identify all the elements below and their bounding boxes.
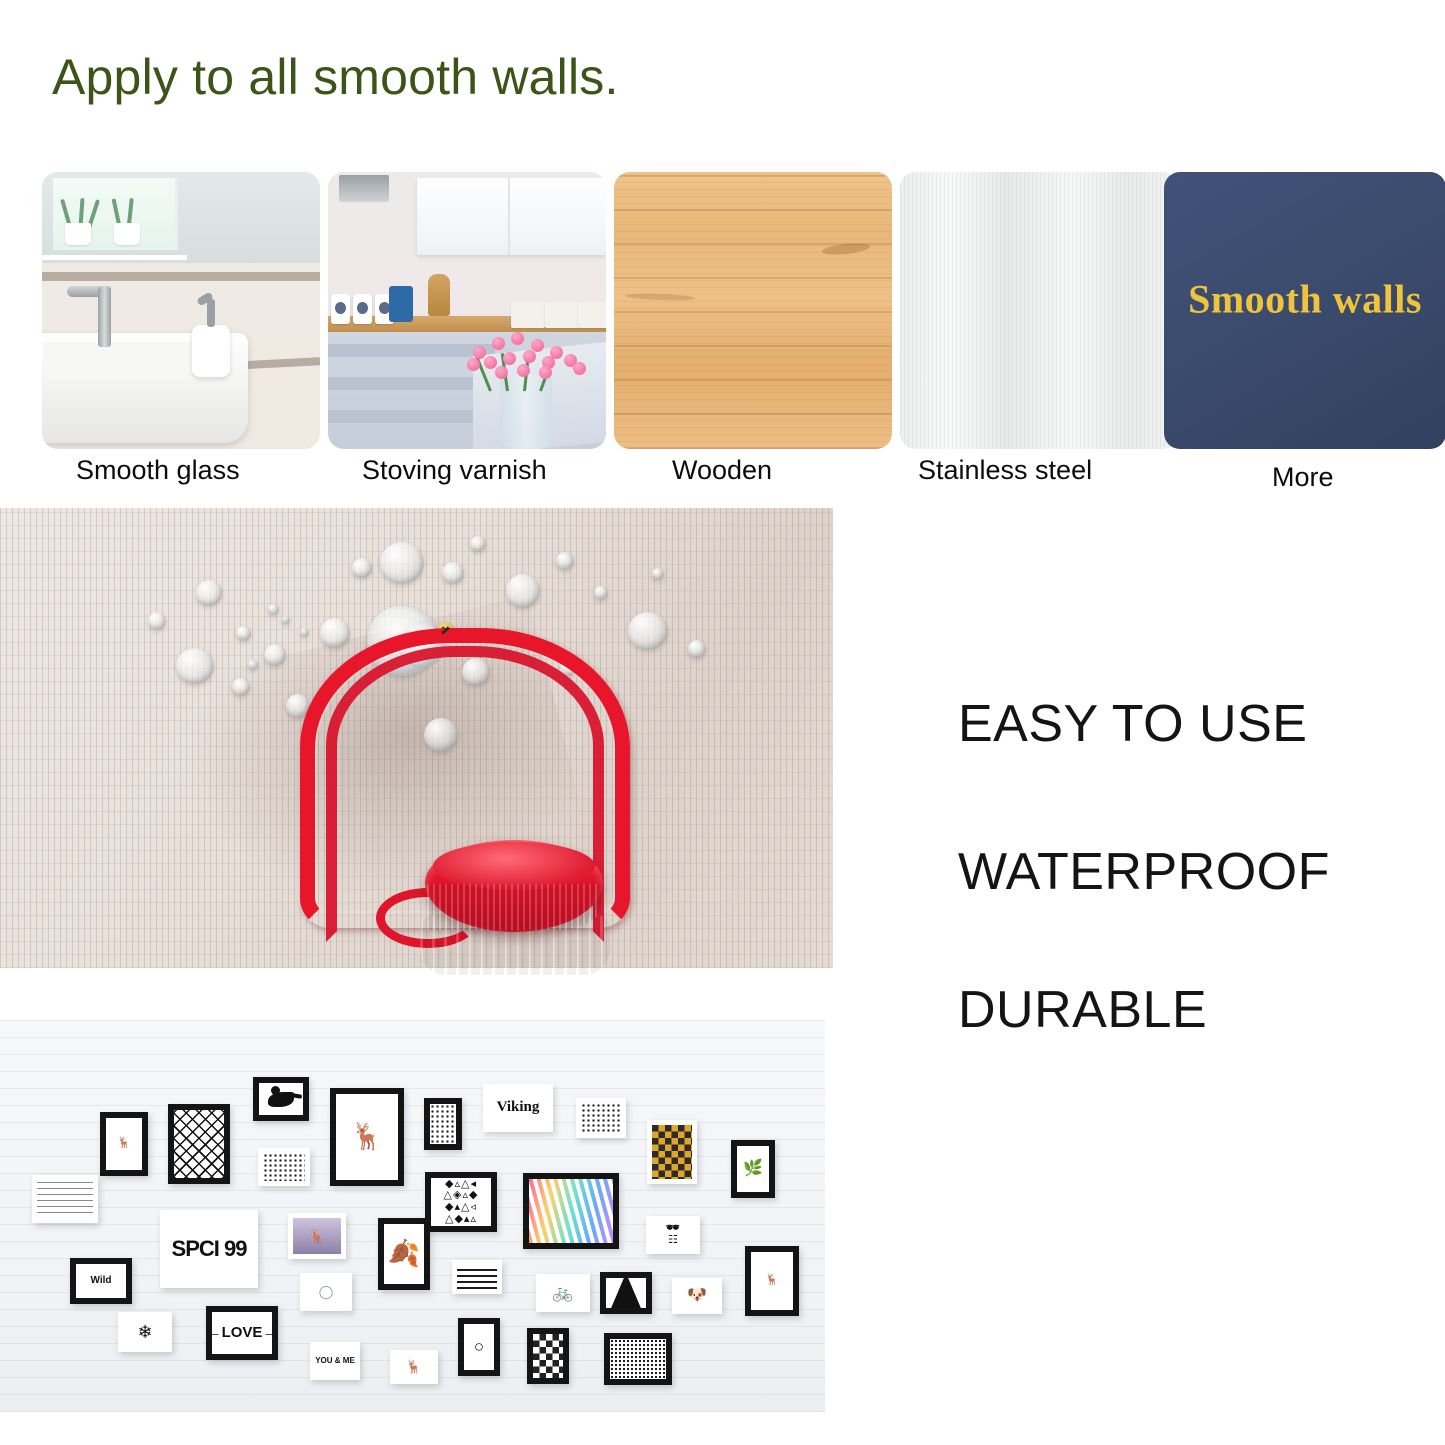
- water-droplet: [594, 586, 608, 600]
- water-droplet: [196, 580, 222, 606]
- frame-abstract-shapes: [527, 1328, 569, 1384]
- surface-tile-wooden: [614, 172, 892, 449]
- kitchen-cabinets-icon: [328, 172, 606, 449]
- frame-leaf: 🍂: [378, 1218, 430, 1290]
- frame-love: ← LOVE →: [206, 1306, 278, 1360]
- frame-tree-scene: [604, 1333, 672, 1385]
- frame-viking: Viking: [483, 1084, 553, 1132]
- feature-waterproof: WATERPROOF: [958, 842, 1330, 902]
- frame-rainbow-zebra: [523, 1173, 619, 1249]
- frame-splatter: [258, 1148, 310, 1186]
- water-droplet: [380, 542, 424, 584]
- frame-wild: Wild: [70, 1258, 132, 1304]
- water-droplet: [264, 644, 286, 666]
- frame-you-and-me: YOU & ME: [310, 1342, 360, 1380]
- water-droplet: [506, 574, 540, 608]
- frame-bird: [253, 1077, 309, 1121]
- surface-caption-smooth-glass: Smooth glass: [76, 455, 240, 486]
- frame-branch: 🌿: [731, 1140, 775, 1198]
- brushed-steel-icon: [900, 172, 1178, 449]
- frame-forest-deer: 🦌: [288, 1213, 346, 1259]
- frame-small-dots: [424, 1098, 462, 1150]
- frame-antler-quote: 🦌: [330, 1088, 404, 1186]
- water-droplet: [352, 558, 372, 578]
- water-droplet: [556, 552, 574, 570]
- water-droplet: [628, 612, 668, 650]
- water-droplet: [688, 640, 706, 658]
- frame-deer-head: 🦌: [100, 1112, 148, 1176]
- frame-circle-stamp: ◯: [300, 1273, 352, 1311]
- water-droplet: [232, 678, 250, 696]
- photo-wall-collage: 🦌 🦌 SPCI 99 Wild 🦌 🍂 ❄ ← LOVE → ◯ YOU & …: [0, 1020, 825, 1412]
- surface-tiles-row: Smooth walls: [42, 172, 1404, 449]
- water-droplet: [442, 562, 464, 584]
- surface-caption-stoving-varnish: Stoving varnish: [362, 455, 547, 486]
- feature-durable: DURABLE: [958, 980, 1207, 1040]
- wood-grain-icon: [614, 172, 892, 449]
- red-bottle-cap: [425, 840, 603, 932]
- water-droplet: [470, 536, 486, 552]
- water-droplet: [148, 612, 166, 630]
- smooth-walls-card-text: Smooth walls: [1164, 276, 1445, 323]
- frame-color-checker: [647, 1120, 697, 1184]
- frame-diamond: [168, 1104, 230, 1184]
- frame-runes: ◆▵△◂△◈▵◆◆▴△◃△◆▴▵: [425, 1172, 497, 1232]
- frame-mustache-glasses: 🕶☷: [646, 1216, 700, 1254]
- water-droplet: [268, 604, 279, 615]
- page-headline: Apply to all smooth walls.: [52, 52, 619, 102]
- water-droplet: [236, 626, 251, 641]
- frame-feather: ❄: [118, 1312, 172, 1352]
- water-droplet: [248, 660, 258, 670]
- water-droplet: [176, 648, 214, 684]
- frame-barcode: [452, 1260, 502, 1294]
- surface-caption-stainless-steel: Stainless steel: [918, 455, 1092, 486]
- frame-geometric-stag: 🦌: [745, 1246, 799, 1316]
- frame-typography: SPCI 99: [160, 1210, 258, 1288]
- frame-small-deer: 🦌: [390, 1350, 438, 1384]
- surface-caption-more: More: [1272, 462, 1334, 493]
- surface-tile-stainless-steel: [900, 172, 1178, 449]
- frame-moon-circle: ○: [458, 1318, 500, 1376]
- frame-french-bulldog: 🐶: [672, 1278, 722, 1314]
- water-droplet: [652, 568, 664, 580]
- frame-bicycle: 🚲: [536, 1274, 590, 1312]
- water-droplet: [282, 616, 290, 624]
- smooth-walls-card-icon: Smooth walls: [1164, 172, 1445, 449]
- bathroom-sink-icon: [42, 172, 320, 449]
- surface-tile-stoving-varnish: [328, 172, 606, 449]
- feature-easy-to-use: EASY TO USE: [958, 694, 1307, 754]
- frame-pine-tree: [600, 1272, 652, 1314]
- surface-caption-wooden: Wooden: [672, 455, 772, 486]
- surface-tile-more: Smooth walls: [1164, 172, 1445, 449]
- frame-handwriting: [32, 1175, 98, 1223]
- frame-dot-matrix: [576, 1098, 626, 1138]
- surface-tile-smooth-glass: [42, 172, 320, 449]
